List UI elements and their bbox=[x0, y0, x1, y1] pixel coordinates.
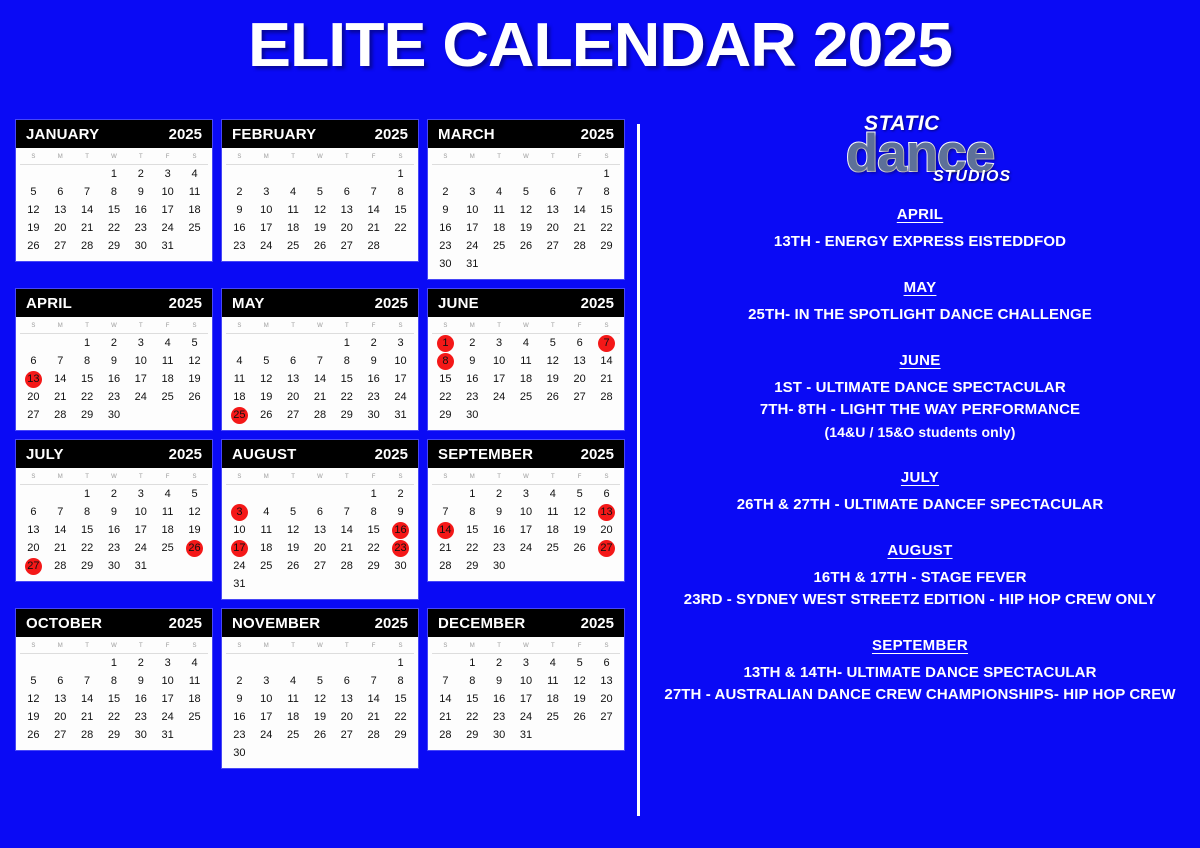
day-cell[interactable]: 14 bbox=[571, 202, 588, 219]
day-cell[interactable]: 13 bbox=[544, 202, 561, 219]
day-cell[interactable]: 8 bbox=[464, 504, 481, 521]
day-cell[interactable]: 8 bbox=[79, 504, 96, 521]
day-cell[interactable]: 17 bbox=[517, 691, 534, 708]
day-cell[interactable]: 15 bbox=[392, 202, 409, 219]
day-cell[interactable]: 3 bbox=[159, 166, 176, 183]
day-cell[interactable]: 25 bbox=[186, 709, 203, 726]
day-cell[interactable]: 6 bbox=[52, 673, 69, 690]
day-cell-marked[interactable]: 1 bbox=[437, 335, 454, 352]
day-cell[interactable]: 25 bbox=[285, 727, 302, 744]
day-cell[interactable]: 9 bbox=[491, 504, 508, 521]
day-cell[interactable]: 31 bbox=[517, 727, 534, 744]
day-cell[interactable]: 6 bbox=[25, 353, 42, 370]
day-cell[interactable]: 4 bbox=[159, 486, 176, 503]
day-cell[interactable]: 5 bbox=[186, 486, 203, 503]
day-cell[interactable]: 6 bbox=[52, 184, 69, 201]
day-cell[interactable]: 1 bbox=[598, 166, 615, 183]
day-cell[interactable]: 3 bbox=[159, 655, 176, 672]
day-cell[interactable]: 17 bbox=[517, 522, 534, 539]
day-cell[interactable]: 31 bbox=[464, 256, 481, 273]
day-cell[interactable]: 6 bbox=[25, 504, 42, 521]
day-cell[interactable]: 23 bbox=[464, 389, 481, 406]
day-cell[interactable]: 12 bbox=[25, 202, 42, 219]
day-cell[interactable]: 20 bbox=[338, 709, 355, 726]
day-cell[interactable]: 18 bbox=[285, 220, 302, 237]
day-cell[interactable]: 1 bbox=[365, 486, 382, 503]
day-cell[interactable]: 3 bbox=[464, 184, 481, 201]
day-cell[interactable]: 2 bbox=[231, 673, 248, 690]
day-cell[interactable]: 25 bbox=[491, 238, 508, 255]
day-cell[interactable]: 18 bbox=[544, 522, 561, 539]
day-cell[interactable]: 28 bbox=[571, 238, 588, 255]
day-cell[interactable]: 3 bbox=[491, 335, 508, 352]
day-cell[interactable]: 14 bbox=[52, 371, 69, 388]
day-cell[interactable]: 23 bbox=[231, 727, 248, 744]
day-cell[interactable]: 31 bbox=[159, 238, 176, 255]
day-cell[interactable]: 23 bbox=[105, 389, 122, 406]
day-cell[interactable]: 16 bbox=[365, 371, 382, 388]
day-cell[interactable]: 15 bbox=[105, 691, 122, 708]
day-cell[interactable]: 4 bbox=[258, 504, 275, 521]
day-cell[interactable]: 20 bbox=[571, 371, 588, 388]
day-cell[interactable]: 27 bbox=[598, 709, 615, 726]
day-cell[interactable]: 15 bbox=[437, 371, 454, 388]
day-cell[interactable]: 21 bbox=[79, 220, 96, 237]
day-cell[interactable]: 20 bbox=[25, 389, 42, 406]
day-cell[interactable]: 20 bbox=[598, 691, 615, 708]
day-cell[interactable]: 21 bbox=[437, 709, 454, 726]
day-cell[interactable]: 28 bbox=[598, 389, 615, 406]
day-cell[interactable]: 1 bbox=[464, 655, 481, 672]
day-cell[interactable]: 22 bbox=[392, 709, 409, 726]
day-cell-marked[interactable]: 14 bbox=[437, 522, 454, 539]
day-cell[interactable]: 13 bbox=[311, 522, 328, 539]
day-cell[interactable]: 4 bbox=[544, 486, 561, 503]
day-cell[interactable]: 26 bbox=[311, 238, 328, 255]
day-cell[interactable]: 31 bbox=[159, 727, 176, 744]
day-cell[interactable]: 14 bbox=[598, 353, 615, 370]
day-cell[interactable]: 25 bbox=[517, 389, 534, 406]
day-cell[interactable]: 20 bbox=[311, 540, 328, 557]
day-cell[interactable]: 15 bbox=[338, 371, 355, 388]
day-cell[interactable]: 19 bbox=[258, 389, 275, 406]
day-cell[interactable]: 4 bbox=[544, 655, 561, 672]
day-cell[interactable]: 16 bbox=[132, 202, 149, 219]
day-cell[interactable]: 18 bbox=[285, 709, 302, 726]
day-cell[interactable]: 2 bbox=[231, 184, 248, 201]
day-cell[interactable]: 9 bbox=[132, 184, 149, 201]
day-cell[interactable]: 30 bbox=[365, 407, 382, 424]
day-cell[interactable]: 17 bbox=[392, 371, 409, 388]
day-cell[interactable]: 15 bbox=[105, 202, 122, 219]
day-cell[interactable]: 17 bbox=[491, 371, 508, 388]
day-cell[interactable]: 21 bbox=[311, 389, 328, 406]
day-cell[interactable]: 8 bbox=[365, 504, 382, 521]
day-cell[interactable]: 23 bbox=[132, 709, 149, 726]
day-cell[interactable]: 2 bbox=[392, 486, 409, 503]
day-cell[interactable]: 24 bbox=[464, 238, 481, 255]
day-cell[interactable]: 2 bbox=[491, 655, 508, 672]
day-cell[interactable]: 22 bbox=[464, 709, 481, 726]
day-cell[interactable]: 8 bbox=[105, 673, 122, 690]
day-cell[interactable]: 24 bbox=[132, 389, 149, 406]
day-cell[interactable]: 23 bbox=[365, 389, 382, 406]
day-cell[interactable]: 19 bbox=[311, 220, 328, 237]
day-cell-marked[interactable]: 7 bbox=[598, 335, 615, 352]
day-cell[interactable]: 30 bbox=[437, 256, 454, 273]
day-cell[interactable]: 7 bbox=[437, 504, 454, 521]
day-cell[interactable]: 9 bbox=[231, 202, 248, 219]
day-cell[interactable]: 13 bbox=[25, 522, 42, 539]
day-cell-marked[interactable]: 13 bbox=[25, 371, 42, 388]
day-cell[interactable]: 3 bbox=[258, 184, 275, 201]
day-cell[interactable]: 29 bbox=[105, 727, 122, 744]
day-cell[interactable]: 18 bbox=[186, 691, 203, 708]
day-cell[interactable]: 30 bbox=[464, 407, 481, 424]
day-cell[interactable]: 27 bbox=[52, 238, 69, 255]
day-cell[interactable]: 2 bbox=[491, 486, 508, 503]
day-cell-marked[interactable]: 3 bbox=[231, 504, 248, 521]
day-cell[interactable]: 26 bbox=[571, 709, 588, 726]
day-cell[interactable]: 6 bbox=[311, 504, 328, 521]
day-cell[interactable]: 11 bbox=[285, 691, 302, 708]
day-cell[interactable]: 11 bbox=[491, 202, 508, 219]
day-cell[interactable]: 31 bbox=[231, 576, 248, 593]
day-cell[interactable]: 3 bbox=[517, 486, 534, 503]
day-cell[interactable]: 24 bbox=[159, 220, 176, 237]
day-cell[interactable]: 5 bbox=[544, 335, 561, 352]
day-cell[interactable]: 11 bbox=[517, 353, 534, 370]
day-cell[interactable]: 26 bbox=[25, 727, 42, 744]
day-cell-marked[interactable]: 25 bbox=[231, 407, 248, 424]
day-cell[interactable]: 22 bbox=[79, 540, 96, 557]
day-cell[interactable]: 14 bbox=[365, 202, 382, 219]
day-cell[interactable]: 7 bbox=[52, 353, 69, 370]
day-cell[interactable]: 26 bbox=[186, 389, 203, 406]
day-cell[interactable]: 14 bbox=[79, 202, 96, 219]
day-cell[interactable]: 29 bbox=[338, 407, 355, 424]
day-cell[interactable]: 4 bbox=[159, 335, 176, 352]
day-cell[interactable]: 26 bbox=[285, 558, 302, 575]
day-cell[interactable]: 22 bbox=[365, 540, 382, 557]
day-cell[interactable]: 1 bbox=[392, 655, 409, 672]
day-cell[interactable]: 19 bbox=[544, 371, 561, 388]
day-cell[interactable]: 31 bbox=[132, 558, 149, 575]
day-cell[interactable]: 18 bbox=[544, 691, 561, 708]
day-cell[interactable]: 25 bbox=[544, 540, 561, 557]
day-cell[interactable]: 18 bbox=[517, 371, 534, 388]
day-cell[interactable]: 12 bbox=[186, 504, 203, 521]
day-cell[interactable]: 12 bbox=[571, 504, 588, 521]
day-cell[interactable]: 13 bbox=[285, 371, 302, 388]
day-cell[interactable]: 15 bbox=[365, 522, 382, 539]
day-cell[interactable]: 10 bbox=[159, 673, 176, 690]
day-cell[interactable]: 11 bbox=[186, 673, 203, 690]
day-cell[interactable]: 3 bbox=[258, 673, 275, 690]
day-cell[interactable]: 4 bbox=[491, 184, 508, 201]
day-cell[interactable]: 16 bbox=[491, 522, 508, 539]
day-cell[interactable]: 21 bbox=[571, 220, 588, 237]
day-cell[interactable]: 12 bbox=[517, 202, 534, 219]
day-cell-marked[interactable]: 27 bbox=[25, 558, 42, 575]
day-cell[interactable]: 17 bbox=[132, 522, 149, 539]
day-cell[interactable]: 20 bbox=[285, 389, 302, 406]
day-cell[interactable]: 31 bbox=[392, 407, 409, 424]
day-cell[interactable]: 11 bbox=[186, 184, 203, 201]
day-cell[interactable]: 25 bbox=[258, 558, 275, 575]
day-cell[interactable]: 12 bbox=[571, 673, 588, 690]
day-cell[interactable]: 16 bbox=[464, 371, 481, 388]
day-cell[interactable]: 18 bbox=[258, 540, 275, 557]
day-cell[interactable]: 17 bbox=[258, 709, 275, 726]
day-cell[interactable]: 8 bbox=[598, 184, 615, 201]
day-cell[interactable]: 5 bbox=[517, 184, 534, 201]
day-cell[interactable]: 10 bbox=[258, 691, 275, 708]
day-cell[interactable]: 19 bbox=[25, 220, 42, 237]
day-cell[interactable]: 7 bbox=[79, 673, 96, 690]
day-cell[interactable]: 29 bbox=[79, 407, 96, 424]
day-cell[interactable]: 8 bbox=[392, 184, 409, 201]
day-cell[interactable]: 7 bbox=[437, 673, 454, 690]
day-cell[interactable]: 19 bbox=[571, 691, 588, 708]
day-cell[interactable]: 10 bbox=[132, 504, 149, 521]
day-cell[interactable]: 21 bbox=[365, 709, 382, 726]
day-cell[interactable]: 28 bbox=[52, 558, 69, 575]
day-cell[interactable]: 12 bbox=[258, 371, 275, 388]
day-cell[interactable]: 23 bbox=[231, 238, 248, 255]
day-cell[interactable]: 12 bbox=[25, 691, 42, 708]
day-cell[interactable]: 7 bbox=[338, 504, 355, 521]
day-cell[interactable]: 2 bbox=[437, 184, 454, 201]
day-cell[interactable]: 14 bbox=[437, 691, 454, 708]
day-cell[interactable]: 7 bbox=[52, 504, 69, 521]
day-cell[interactable]: 22 bbox=[338, 389, 355, 406]
day-cell[interactable]: 22 bbox=[437, 389, 454, 406]
day-cell[interactable]: 11 bbox=[258, 522, 275, 539]
day-cell[interactable]: 5 bbox=[311, 673, 328, 690]
day-cell[interactable]: 2 bbox=[132, 166, 149, 183]
day-cell[interactable]: 3 bbox=[392, 335, 409, 352]
day-cell[interactable]: 7 bbox=[571, 184, 588, 201]
day-cell[interactable]: 13 bbox=[52, 691, 69, 708]
day-cell[interactable]: 10 bbox=[159, 184, 176, 201]
day-cell[interactable]: 6 bbox=[544, 184, 561, 201]
day-cell[interactable]: 30 bbox=[132, 727, 149, 744]
day-cell[interactable]: 20 bbox=[338, 220, 355, 237]
day-cell[interactable]: 22 bbox=[464, 540, 481, 557]
day-cell[interactable]: 3 bbox=[132, 486, 149, 503]
day-cell[interactable]: 17 bbox=[159, 691, 176, 708]
day-cell[interactable]: 13 bbox=[571, 353, 588, 370]
day-cell[interactable]: 23 bbox=[105, 540, 122, 557]
day-cell[interactable]: 5 bbox=[285, 504, 302, 521]
day-cell[interactable]: 22 bbox=[598, 220, 615, 237]
day-cell[interactable]: 29 bbox=[105, 238, 122, 255]
day-cell[interactable]: 10 bbox=[517, 504, 534, 521]
day-cell[interactable]: 16 bbox=[231, 220, 248, 237]
day-cell[interactable]: 27 bbox=[338, 727, 355, 744]
day-cell[interactable]: 26 bbox=[25, 238, 42, 255]
day-cell[interactable]: 1 bbox=[464, 486, 481, 503]
day-cell[interactable]: 12 bbox=[544, 353, 561, 370]
day-cell[interactable]: 30 bbox=[105, 558, 122, 575]
day-cell-marked[interactable]: 16 bbox=[392, 522, 409, 539]
day-cell[interactable]: 30 bbox=[491, 558, 508, 575]
day-cell[interactable]: 30 bbox=[231, 745, 248, 762]
day-cell[interactable]: 25 bbox=[159, 540, 176, 557]
day-cell[interactable]: 28 bbox=[338, 558, 355, 575]
day-cell[interactable]: 2 bbox=[464, 335, 481, 352]
day-cell[interactable]: 16 bbox=[437, 220, 454, 237]
day-cell[interactable]: 4 bbox=[285, 673, 302, 690]
day-cell[interactable]: 7 bbox=[365, 184, 382, 201]
day-cell[interactable]: 15 bbox=[598, 202, 615, 219]
day-cell[interactable]: 23 bbox=[132, 220, 149, 237]
day-cell[interactable]: 6 bbox=[338, 673, 355, 690]
day-cell[interactable]: 18 bbox=[186, 202, 203, 219]
day-cell[interactable]: 23 bbox=[491, 709, 508, 726]
day-cell[interactable]: 21 bbox=[52, 540, 69, 557]
day-cell[interactable]: 5 bbox=[258, 353, 275, 370]
day-cell[interactable]: 9 bbox=[365, 353, 382, 370]
day-cell[interactable]: 28 bbox=[437, 727, 454, 744]
day-cell[interactable]: 10 bbox=[392, 353, 409, 370]
day-cell[interactable]: 1 bbox=[105, 166, 122, 183]
day-cell[interactable]: 8 bbox=[338, 353, 355, 370]
day-cell[interactable]: 25 bbox=[285, 238, 302, 255]
day-cell[interactable]: 20 bbox=[544, 220, 561, 237]
day-cell[interactable]: 27 bbox=[338, 238, 355, 255]
day-cell[interactable]: 13 bbox=[52, 202, 69, 219]
day-cell[interactable]: 30 bbox=[132, 238, 149, 255]
day-cell[interactable]: 24 bbox=[258, 238, 275, 255]
day-cell[interactable]: 23 bbox=[437, 238, 454, 255]
day-cell[interactable]: 11 bbox=[159, 353, 176, 370]
day-cell[interactable]: 18 bbox=[159, 371, 176, 388]
day-cell[interactable]: 10 bbox=[517, 673, 534, 690]
day-cell[interactable]: 27 bbox=[311, 558, 328, 575]
day-cell[interactable]: 5 bbox=[25, 673, 42, 690]
day-cell[interactable]: 29 bbox=[392, 727, 409, 744]
day-cell[interactable]: 12 bbox=[311, 691, 328, 708]
day-cell[interactable]: 24 bbox=[392, 389, 409, 406]
day-cell[interactable]: 11 bbox=[231, 371, 248, 388]
day-cell[interactable]: 9 bbox=[132, 673, 149, 690]
day-cell[interactable]: 30 bbox=[491, 727, 508, 744]
day-cell-marked[interactable]: 23 bbox=[392, 540, 409, 557]
day-cell-marked[interactable]: 26 bbox=[186, 540, 203, 557]
day-cell[interactable]: 29 bbox=[464, 727, 481, 744]
day-cell[interactable]: 22 bbox=[392, 220, 409, 237]
day-cell[interactable]: 1 bbox=[105, 655, 122, 672]
day-cell[interactable]: 27 bbox=[544, 238, 561, 255]
day-cell[interactable]: 24 bbox=[132, 540, 149, 557]
day-cell[interactable]: 15 bbox=[392, 691, 409, 708]
day-cell[interactable]: 2 bbox=[132, 655, 149, 672]
day-cell[interactable]: 24 bbox=[491, 389, 508, 406]
day-cell[interactable]: 13 bbox=[338, 691, 355, 708]
day-cell[interactable]: 25 bbox=[159, 389, 176, 406]
day-cell[interactable]: 15 bbox=[464, 522, 481, 539]
day-cell[interactable]: 5 bbox=[571, 486, 588, 503]
day-cell[interactable]: 5 bbox=[186, 335, 203, 352]
day-cell[interactable]: 19 bbox=[517, 220, 534, 237]
day-cell[interactable]: 4 bbox=[186, 166, 203, 183]
day-cell[interactable]: 21 bbox=[79, 709, 96, 726]
day-cell[interactable]: 22 bbox=[105, 709, 122, 726]
day-cell[interactable]: 1 bbox=[392, 166, 409, 183]
day-cell[interactable]: 2 bbox=[105, 486, 122, 503]
day-cell[interactable]: 27 bbox=[25, 407, 42, 424]
day-cell[interactable]: 5 bbox=[311, 184, 328, 201]
day-cell[interactable]: 16 bbox=[105, 371, 122, 388]
day-cell[interactable]: 15 bbox=[464, 691, 481, 708]
day-cell[interactable]: 29 bbox=[79, 558, 96, 575]
day-cell[interactable]: 18 bbox=[491, 220, 508, 237]
day-cell[interactable]: 21 bbox=[365, 220, 382, 237]
day-cell[interactable]: 17 bbox=[159, 202, 176, 219]
day-cell[interactable]: 26 bbox=[311, 727, 328, 744]
day-cell[interactable]: 19 bbox=[186, 522, 203, 539]
day-cell[interactable]: 16 bbox=[132, 691, 149, 708]
day-cell[interactable]: 21 bbox=[52, 389, 69, 406]
day-cell[interactable]: 7 bbox=[311, 353, 328, 370]
day-cell[interactable]: 7 bbox=[365, 673, 382, 690]
day-cell[interactable]: 19 bbox=[186, 371, 203, 388]
day-cell[interactable]: 6 bbox=[571, 335, 588, 352]
day-cell[interactable]: 24 bbox=[517, 540, 534, 557]
day-cell[interactable]: 3 bbox=[517, 655, 534, 672]
day-cell[interactable]: 14 bbox=[311, 371, 328, 388]
day-cell[interactable]: 11 bbox=[159, 504, 176, 521]
day-cell[interactable]: 25 bbox=[186, 220, 203, 237]
day-cell[interactable]: 19 bbox=[25, 709, 42, 726]
day-cell[interactable]: 2 bbox=[105, 335, 122, 352]
day-cell[interactable]: 4 bbox=[285, 184, 302, 201]
day-cell[interactable]: 29 bbox=[598, 238, 615, 255]
day-cell[interactable]: 16 bbox=[105, 522, 122, 539]
day-cell[interactable]: 15 bbox=[79, 522, 96, 539]
day-cell[interactable]: 12 bbox=[186, 353, 203, 370]
day-cell[interactable]: 21 bbox=[598, 371, 615, 388]
day-cell[interactable]: 20 bbox=[25, 540, 42, 557]
day-cell[interactable]: 21 bbox=[338, 540, 355, 557]
day-cell[interactable]: 6 bbox=[338, 184, 355, 201]
day-cell[interactable]: 29 bbox=[365, 558, 382, 575]
day-cell[interactable]: 19 bbox=[285, 540, 302, 557]
day-cell[interactable]: 17 bbox=[132, 371, 149, 388]
day-cell[interactable]: 9 bbox=[392, 504, 409, 521]
day-cell[interactable]: 29 bbox=[464, 558, 481, 575]
day-cell[interactable]: 14 bbox=[338, 522, 355, 539]
day-cell[interactable]: 1 bbox=[338, 335, 355, 352]
day-cell[interactable]: 24 bbox=[159, 709, 176, 726]
day-cell[interactable]: 9 bbox=[105, 353, 122, 370]
day-cell[interactable]: 22 bbox=[79, 389, 96, 406]
day-cell[interactable]: 12 bbox=[311, 202, 328, 219]
day-cell[interactable]: 11 bbox=[544, 504, 561, 521]
day-cell[interactable]: 10 bbox=[464, 202, 481, 219]
day-cell[interactable]: 29 bbox=[437, 407, 454, 424]
day-cell[interactable]: 1 bbox=[79, 335, 96, 352]
day-cell[interactable]: 16 bbox=[231, 709, 248, 726]
day-cell[interactable]: 2 bbox=[365, 335, 382, 352]
day-cell-marked[interactable]: 17 bbox=[231, 540, 248, 557]
day-cell[interactable]: 5 bbox=[25, 184, 42, 201]
day-cell[interactable]: 28 bbox=[437, 558, 454, 575]
day-cell[interactable]: 28 bbox=[311, 407, 328, 424]
day-cell[interactable]: 24 bbox=[231, 558, 248, 575]
